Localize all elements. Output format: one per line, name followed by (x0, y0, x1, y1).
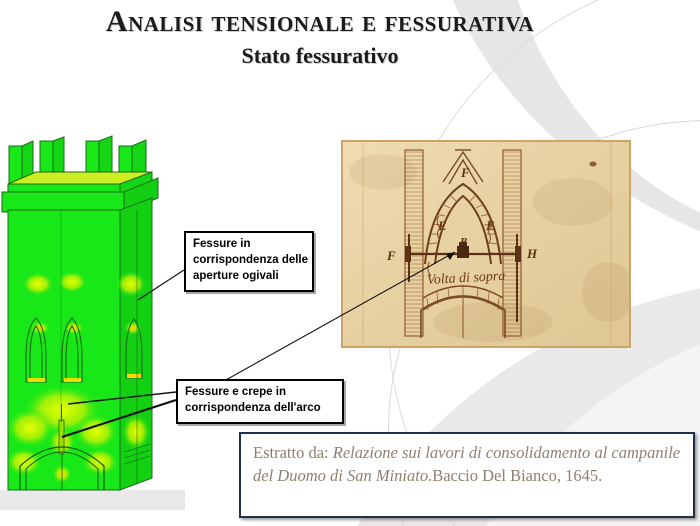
citation-box: Estratto da: Relazione sui lavori di con… (239, 432, 695, 518)
citation-prefix: Estratto da (253, 443, 324, 462)
fem-tower-figure (0, 132, 185, 512)
page-title: Analisi tensionale e fessurativa (0, 6, 640, 38)
callout-arch-line-2: corrispondenza dell'arco (185, 401, 336, 417)
svg-text:E: E (485, 218, 495, 233)
svg-text:F: F (386, 248, 396, 263)
citation-author-line-2: Del Bianco, 1645. (482, 466, 602, 485)
callout-openings-line-1: Fessure in (193, 237, 306, 253)
svg-text:H: H (526, 246, 538, 261)
callout-openings-line-2: corrispondenza delle (193, 253, 306, 269)
svg-text:F: F (460, 165, 470, 180)
citation-title-line-1: Relazione sui lavori di consolidamento (333, 443, 591, 462)
callout-fessure-crepe-arco[interactable]: Fessure e crepe in corrispondenza dell'a… (176, 379, 344, 424)
title-block: Analisi tensionale e fessurativa Stato f… (0, 6, 640, 67)
svg-text:B: B (459, 236, 467, 248)
citation-text: Estratto da: Relazione sui lavori di con… (253, 441, 683, 488)
historic-drawing-image: F E E F H B Volta di sopra (341, 140, 631, 348)
slide-canvas: Analisi tensionale e fessurativa Stato f… (0, 0, 700, 526)
callout-openings-line-3: aperture ogivali (193, 269, 306, 285)
callout-fessure-aperture-ogivali[interactable]: Fessure in corrispondenza delle aperture… (184, 231, 314, 292)
citation-author-part-1: Baccio (432, 466, 478, 485)
fem-crack-slit (59, 420, 64, 454)
page-subtitle: Stato fessurativo (0, 44, 640, 67)
fem-floor (0, 490, 185, 510)
historic-drawing-svg: F E E F H B Volta di sopra (343, 142, 629, 346)
fem-tower-svg (0, 132, 185, 512)
fem-cornice (2, 192, 124, 212)
citation-colon: : (324, 443, 333, 462)
callout-arch-line-1: Fessure e crepe in (185, 385, 336, 401)
